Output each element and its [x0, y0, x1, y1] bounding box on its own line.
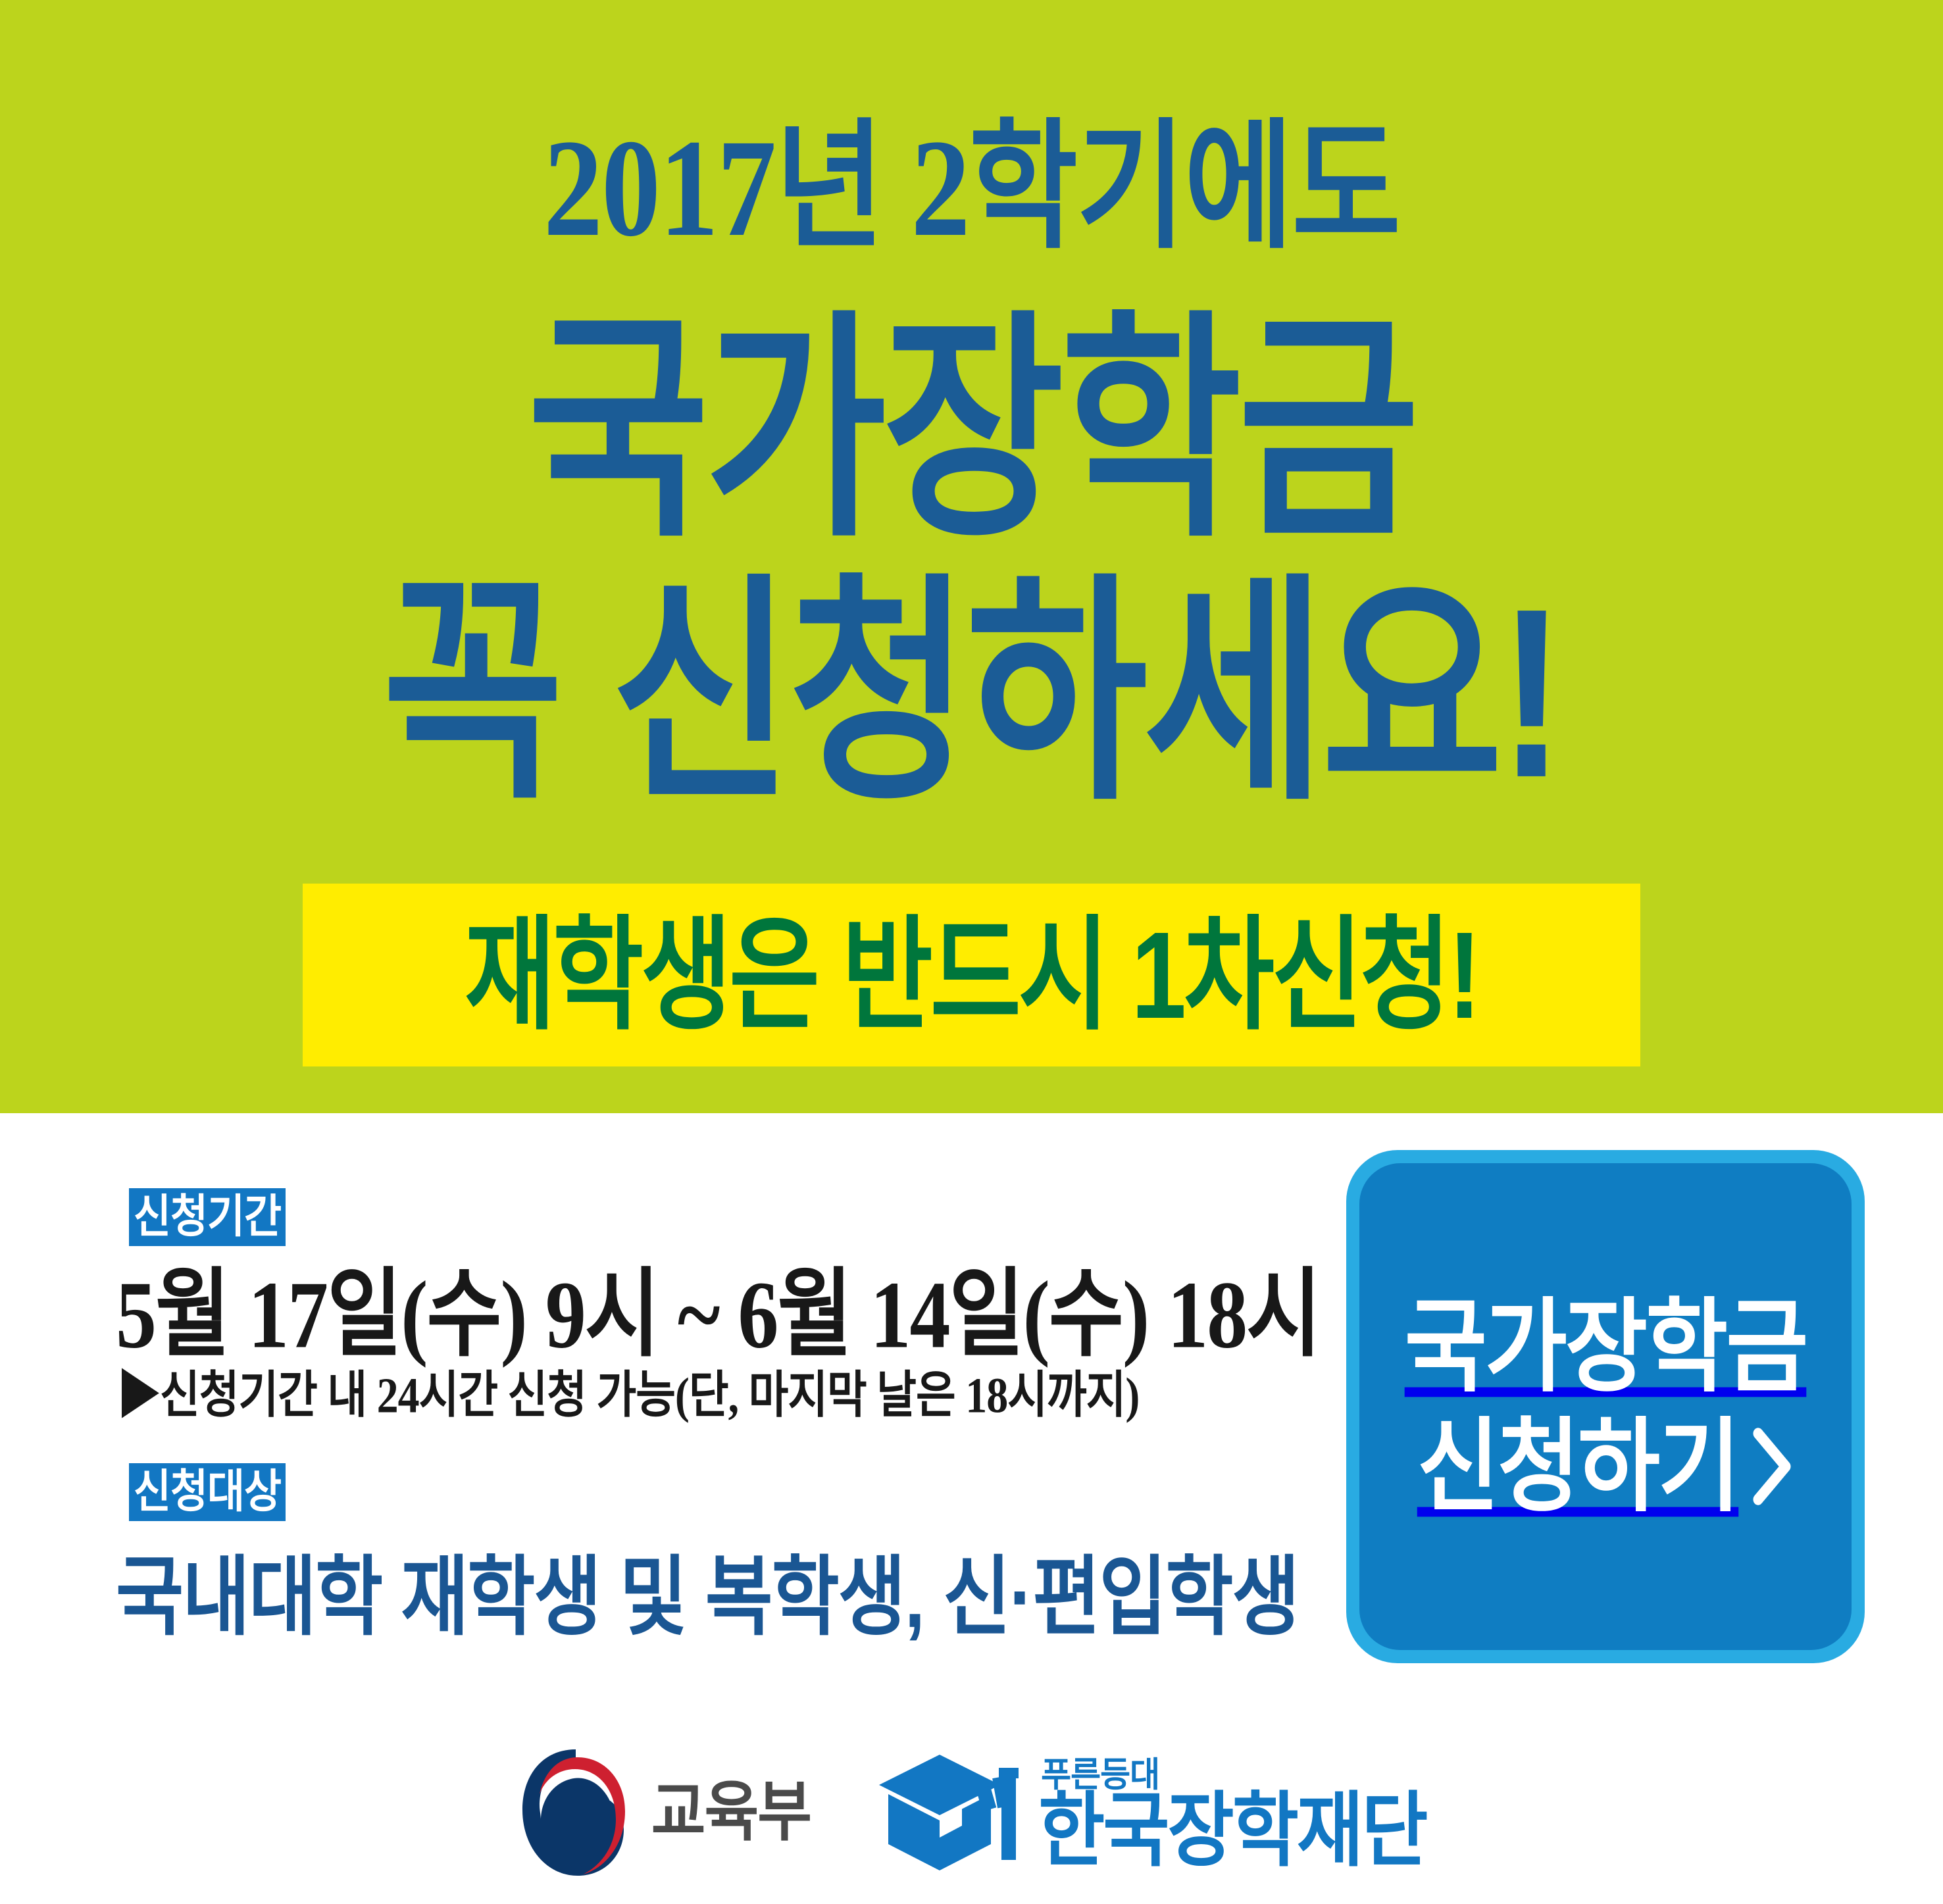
kosaf-name: 한국장학재단 — [1038, 1790, 1426, 1871]
apply-button-line-1: 국가장학금 — [1405, 1278, 1807, 1415]
kosaf-logo: 푸른등대 한국장학재단 — [879, 1748, 1426, 1877]
apply-button-line-2-row: 신청하기 — [1417, 1398, 1794, 1535]
scholarship-banner: 2017년 2학기에도 국가장학금 꼭 신청하세요! 재학생은 반드시 1차신청… — [0, 0, 1943, 1904]
badge-application-period-label: 신청기간 — [134, 1194, 281, 1240]
hero-highlight-text: 재학생은 반드시 1차신청! — [465, 913, 1478, 1037]
badge-application-period: 신청기간 — [129, 1188, 286, 1246]
hero-highlight-box: 재학생은 반드시 1차신청! — [303, 884, 1640, 1066]
badge-application-target-label: 신청대상 — [134, 1469, 281, 1515]
apply-scholarship-button[interactable]: 국가장학금 신청하기 — [1346, 1150, 1865, 1663]
apply-scholarship-button-inner[interactable]: 국가장학금 신청하기 — [1359, 1163, 1852, 1650]
badge-application-target: 신청대상 — [129, 1463, 286, 1521]
taegeuk-emblem-icon — [517, 1747, 634, 1878]
application-target-value: 국내대학 재학생 및 복학생, 신·편입학생 — [116, 1554, 1299, 1641]
apply-button-line-2: 신청하기 — [1417, 1398, 1738, 1535]
application-period-note: ▶신청기간 내 24시간 신청 가능(단, 마지막 날은 18시까지) — [117, 1371, 1139, 1422]
application-period-value: 5월 17일(수) 9시 ~ 6월 14일(수) 18시 — [116, 1267, 1320, 1363]
hero-title-line-1: 국가장학금 — [0, 309, 1943, 550]
hero-section: 2017년 2학기에도 국가장학금 꼭 신청하세요! 재학생은 반드시 1차신청… — [0, 0, 1943, 1113]
ministry-of-education-name: 교육부 — [651, 1780, 811, 1845]
footer-logos: 교육부 푸른등대 한국장학재단 — [0, 1720, 1943, 1904]
hero-title-line-2: 꼭 신청하세요! — [0, 572, 1943, 813]
chevron-right-icon — [1750, 1428, 1794, 1506]
graduation-cap-icon — [879, 1748, 1021, 1877]
kosaf-wordmark: 푸른등대 한국장학재단 — [1038, 1758, 1426, 1867]
ministry-of-education-logo: 교육부 — [517, 1747, 811, 1878]
hero-eyebrow: 2017년 2학기에도 — [0, 118, 1943, 258]
